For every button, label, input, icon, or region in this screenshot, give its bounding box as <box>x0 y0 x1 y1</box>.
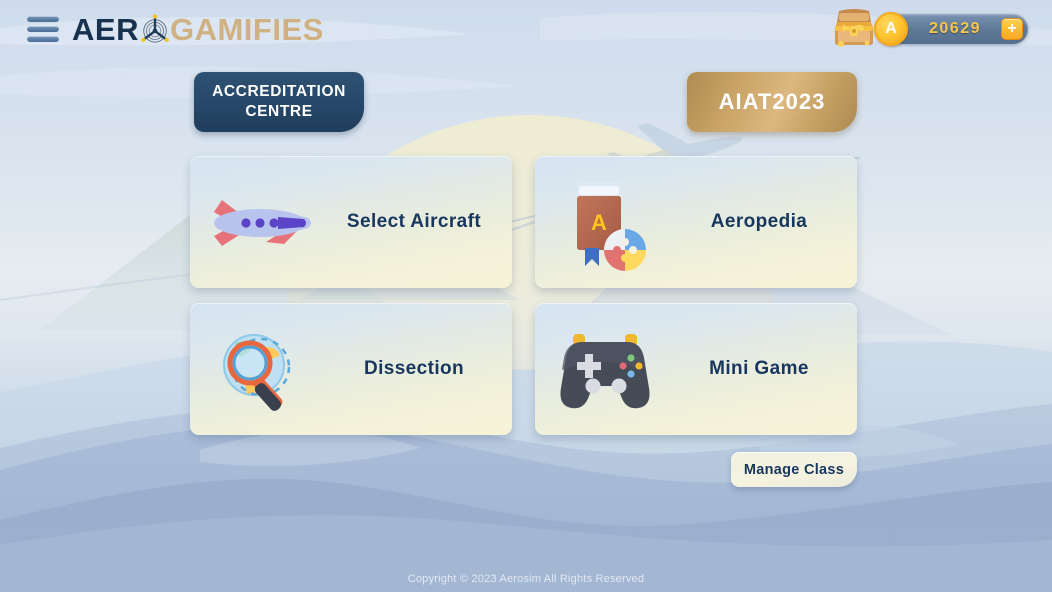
book-puzzle-icon: A <box>535 156 675 288</box>
footer-copyright: Copyright © 2023 Aerosim All Rights Rese… <box>0 573 1052 585</box>
brand-logo[interactable]: AER GAMIFIES <box>72 12 324 46</box>
treasure-chest-icon[interactable] <box>829 8 879 50</box>
background-scene <box>0 0 1052 592</box>
app-root: AER GAMIFIES <box>0 0 1052 592</box>
menu-card-label: Aeropedia <box>675 211 857 233</box>
gamepad-icon <box>535 303 675 435</box>
hamburger-menu-icon[interactable] <box>27 16 59 42</box>
manage-class-button[interactable]: Manage Class <box>731 452 857 487</box>
menu-card-aeropedia[interactable]: A Aeropedia <box>535 156 857 288</box>
globe-magnifier-icon <box>190 303 330 435</box>
add-currency-button[interactable]: + <box>1001 18 1023 40</box>
hamburger-bar <box>27 26 59 32</box>
background-art <box>0 0 1052 592</box>
menu-card-label: Select Aircraft <box>330 211 512 233</box>
menu-card-dissection[interactable]: Dissection <box>190 303 512 435</box>
menu-card-label: Dissection <box>330 358 512 380</box>
menu-card-label: Mini Game <box>675 358 857 380</box>
propeller-icon <box>137 12 173 48</box>
currency-bar[interactable]: A 20629 + <box>880 14 1028 44</box>
hamburger-bar <box>27 36 59 42</box>
svg-text:A: A <box>591 210 607 235</box>
coin-icon: A <box>874 12 908 46</box>
tab-accreditation-line1: ACCREDITATION <box>212 82 346 102</box>
tab-accreditation-line2: CENTRE <box>212 102 346 122</box>
airplane-icon <box>190 156 330 288</box>
tab-accreditation-centre[interactable]: ACCREDITATION CENTRE <box>194 72 364 132</box>
app-header: AER GAMIFIES <box>0 0 1052 58</box>
brand-text-primary: AER <box>72 14 139 45</box>
tab-aiat2023[interactable]: AIAT2023 <box>687 72 857 132</box>
menu-card-select-aircraft[interactable]: Select Aircraft <box>190 156 512 288</box>
brand-text-secondary: GAMIFIES <box>170 14 324 45</box>
hamburger-bar <box>27 16 59 22</box>
menu-card-mini-game[interactable]: Mini Game <box>535 303 857 435</box>
